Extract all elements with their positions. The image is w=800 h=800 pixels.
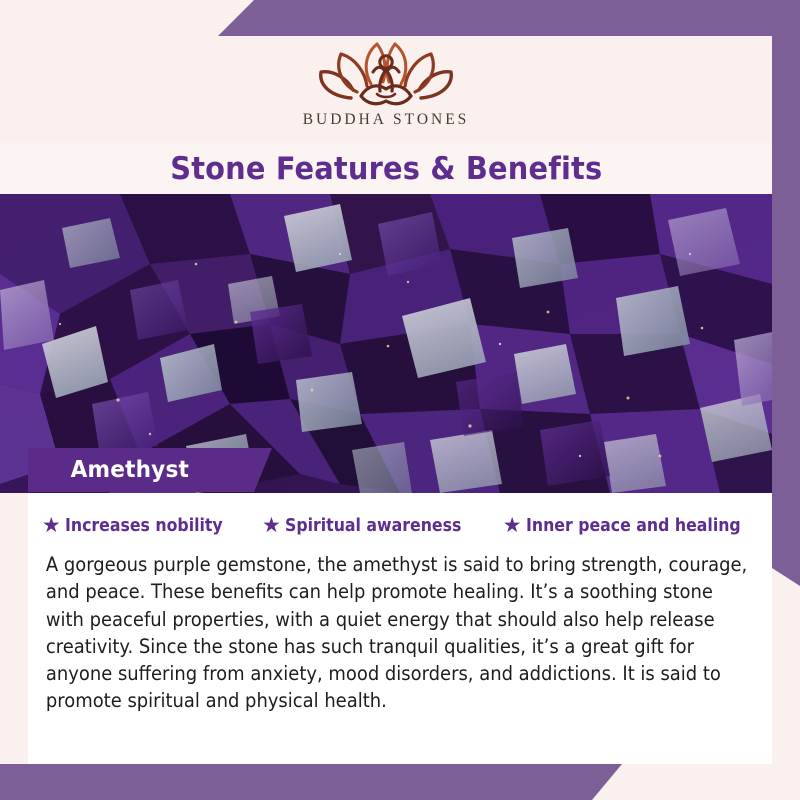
brand-name: BUDDHA STONES: [303, 111, 470, 129]
benefit-label: Increases nobility: [65, 516, 223, 536]
star-icon: ★: [503, 515, 522, 536]
lotus-meditation-figure-icon: [311, 36, 461, 110]
content-panel: ★ Increases nobility ★ Spiritual awarene…: [28, 493, 772, 764]
stone-description: A gorgeous purple gemstone, the amethyst…: [44, 551, 756, 715]
benefit-item: ★ Spiritual awareness: [262, 515, 481, 536]
benefit-item: ★ Increases nobility: [42, 515, 240, 536]
product-info-card: BUDDHA STONES Stone Features & Benefits: [0, 0, 800, 800]
title-bar: Stone Features & Benefits: [0, 143, 772, 194]
stone-name-label: Amethyst: [33, 457, 189, 483]
frame-top-band: [218, 0, 800, 36]
benefit-label: Inner peace and healing: [526, 516, 741, 536]
benefit-item: ★ Inner peace and healing: [503, 515, 764, 536]
star-icon: ★: [262, 515, 281, 536]
brand-logo-block: BUDDHA STONES: [0, 36, 772, 143]
stone-name-banner: Amethyst: [28, 448, 272, 492]
frame-right-band: [772, 0, 800, 586]
page-title: Stone Features & Benefits: [170, 151, 602, 187]
star-icon: ★: [42, 515, 61, 536]
benefits-list: ★ Increases nobility ★ Spiritual awarene…: [44, 515, 756, 536]
benefit-label: Spiritual awareness: [285, 516, 461, 536]
frame-bottom-band: [0, 764, 622, 800]
